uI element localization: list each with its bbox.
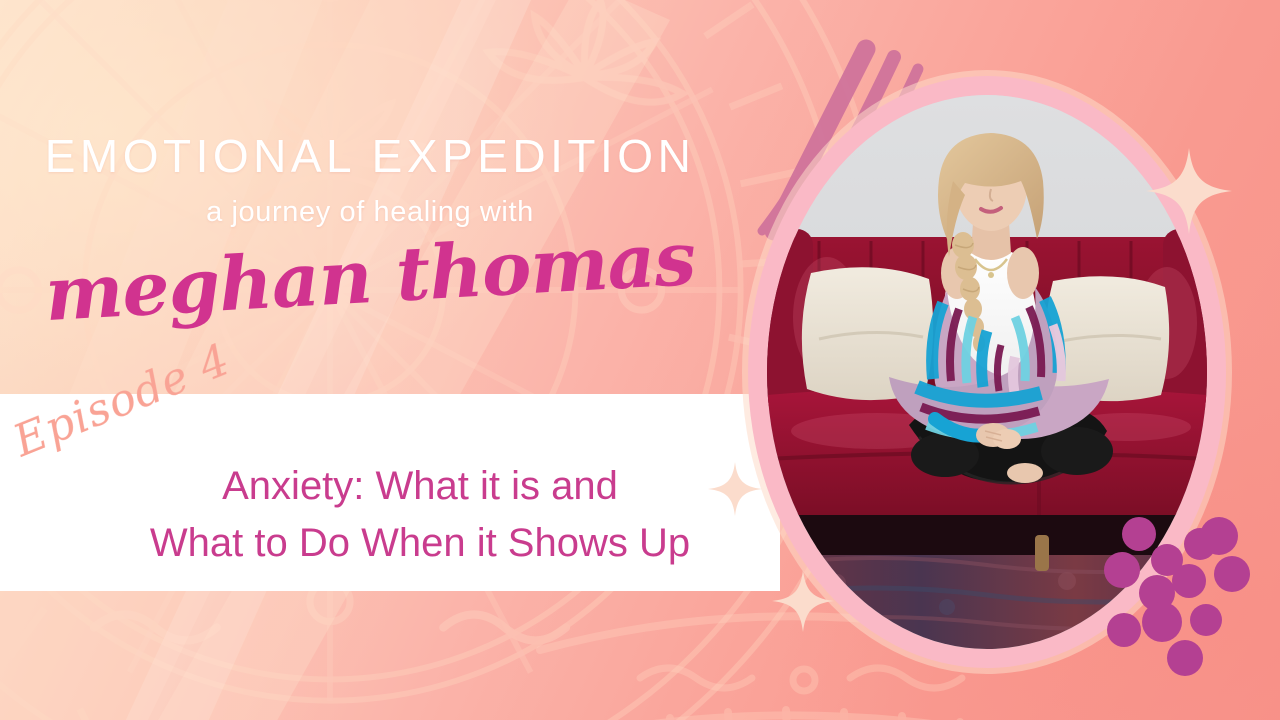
podcast-episode-cover: EMOTIONAL EXPEDITION a journey of healin… — [0, 0, 1280, 720]
dot-cluster-icon — [1098, 498, 1280, 688]
four-point-sparkle-icon — [1146, 148, 1232, 234]
episode-title-line-1: Anxiety: What it is and — [90, 458, 750, 515]
episode-title-line-2: What to Do When it Shows Up — [90, 515, 750, 572]
episode-title: Anxiety: What it is and What to Do When … — [90, 458, 750, 572]
